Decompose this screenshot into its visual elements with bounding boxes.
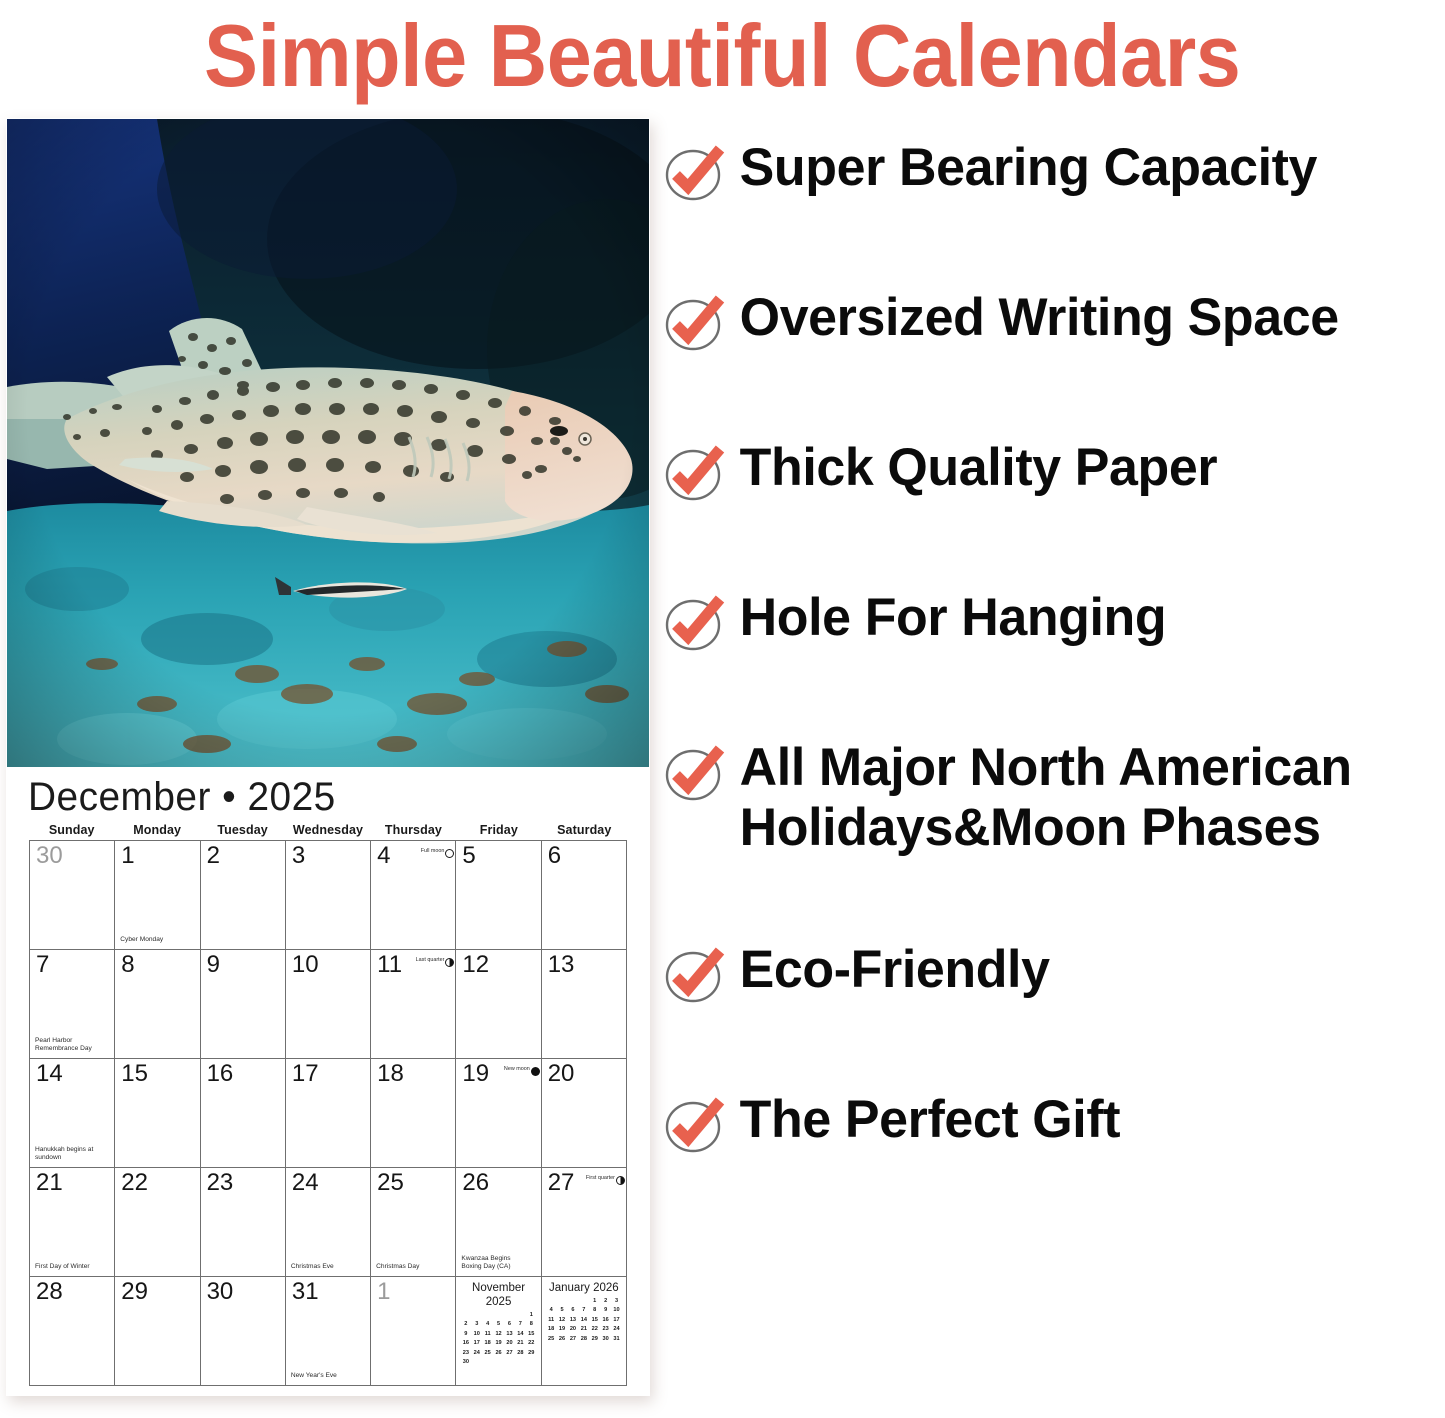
feature-label: Hole For Hanging (724, 588, 1166, 648)
mini-day-blank (567, 1297, 578, 1306)
mini-day: 19 (493, 1339, 504, 1348)
mini-day: 11 (482, 1330, 493, 1339)
mini-day-blank (460, 1311, 471, 1320)
mini-day: 5 (493, 1320, 504, 1329)
holiday-label: Christmas Day (376, 1263, 452, 1271)
check-circle-icon (662, 292, 724, 354)
calendar-day-cell-1: 1 (371, 1277, 456, 1386)
calendar-month-header: December • 2025 (6, 773, 650, 821)
holiday-label: First Day of Winter (35, 1263, 111, 1271)
holiday-label: Christmas Eve (291, 1263, 367, 1271)
mini-day-blank (482, 1311, 493, 1320)
feature-label: Thick Quality Paper (724, 438, 1217, 498)
check-circle-icon (662, 1094, 724, 1156)
mini-day: 30 (600, 1335, 611, 1344)
feature-item: The Perfect Gift (662, 1090, 1442, 1156)
weekday-header-thursday: Thursday (371, 823, 456, 837)
feature-item: Eco-Friendly (662, 940, 1442, 1006)
calendar-photo-zebra-shark (7, 119, 649, 767)
feature-text-block: Super Bearing Capacity (724, 138, 1329, 198)
mini-day: 25 (546, 1335, 557, 1344)
day-number: 14 (36, 1060, 63, 1088)
check-circle-icon (662, 944, 724, 1006)
check-circle-glyph (662, 742, 724, 804)
day-number: 30 (36, 842, 63, 870)
day-number: 25 (377, 1169, 404, 1197)
day-number: 9 (207, 951, 220, 979)
day-number: 8 (121, 951, 134, 979)
mini-calendar-title: January 2026 (546, 1281, 622, 1295)
calendar-day-cell-21: 21First Day of Winter (30, 1168, 115, 1277)
mini-day: 19 (557, 1325, 568, 1334)
mini-calendar-next: January 2026 123456789101112131415161718… (546, 1281, 622, 1344)
page-title-bar: Simple Beautiful Calendars (0, 0, 1445, 112)
mini-day: 3 (471, 1320, 482, 1329)
check-circle-icon (662, 442, 724, 504)
day-number: 17 (292, 1060, 319, 1088)
mini-day: 2 (460, 1320, 471, 1329)
mini-day: 1 (589, 1297, 600, 1306)
mini-day: 14 (515, 1330, 526, 1339)
mini-day: 29 (589, 1335, 600, 1344)
calendar-day-cell-30: 30 (30, 841, 115, 950)
day-number: 19 (462, 1060, 489, 1088)
calendar-day-cell-17: 17 (286, 1059, 371, 1168)
mini-day: 30 (460, 1358, 471, 1367)
page-title: Simple Beautiful Calendars (204, 12, 1240, 100)
day-number: 29 (121, 1278, 148, 1306)
weekday-header-wednesday: Wednesday (285, 823, 370, 837)
feature-label-continued: Holidays&Moon Phases (724, 798, 1352, 858)
mini-day: 11 (546, 1316, 557, 1325)
full-moon-icon (445, 849, 454, 858)
day-number: 18 (377, 1060, 404, 1088)
day-number: 12 (462, 951, 489, 979)
calendar-day-cell-14: 14Hanukkah begins at sundown (30, 1059, 115, 1168)
calendar-day-cell-31: 31New Year's Eve (286, 1277, 371, 1386)
calendar-day-cell-22: 22 (115, 1168, 200, 1277)
mini-day: 15 (589, 1316, 600, 1325)
moon-phase-full: Full moon (421, 844, 455, 858)
mini-day: 17 (471, 1339, 482, 1348)
holiday-label: Hanukkah begins at sundown (35, 1146, 111, 1162)
mini-day: 13 (504, 1330, 515, 1339)
mini-day: 4 (546, 1306, 557, 1315)
calendar-day-cell-9: 9 (201, 950, 286, 1059)
mini-day: 18 (482, 1339, 493, 1348)
mini-day: 28 (515, 1349, 526, 1358)
mini-day: 2 (600, 1297, 611, 1306)
calendar-day-cell-10: 10 (286, 950, 371, 1059)
calendar-cell-mini-next: January 2026 123456789101112131415161718… (542, 1277, 627, 1386)
mini-day: 14 (578, 1316, 589, 1325)
feature-list: Super Bearing CapacityOversized Writing … (662, 138, 1442, 1156)
moon-phase-label: Last quarter (416, 957, 445, 963)
holiday-label: New Year's Eve (291, 1372, 367, 1380)
calendar-day-cell-29: 29 (115, 1277, 200, 1386)
mini-day: 20 (504, 1339, 515, 1348)
calendar-day-cell-4: 4Full moon (371, 841, 456, 950)
day-number: 23 (207, 1169, 234, 1197)
calendar-day-cell-15: 15 (115, 1059, 200, 1168)
moon-phase-label: Full moon (421, 848, 445, 854)
feature-label: Oversized Writing Space (724, 288, 1339, 348)
mini-calendar-grid: 1234567891011121314151617181920212223242… (460, 1311, 536, 1367)
day-number: 16 (207, 1060, 234, 1088)
calendar-day-cell-16: 16 (201, 1059, 286, 1168)
mini-day: 23 (460, 1349, 471, 1358)
mini-day: 6 (567, 1306, 578, 1315)
weekday-header-friday: Friday (456, 823, 541, 837)
day-number: 28 (36, 1278, 63, 1306)
mini-day: 1 (526, 1311, 537, 1320)
calendar-day-cell-2: 2 (201, 841, 286, 950)
weekday-header-tuesday: Tuesday (200, 823, 285, 837)
mini-day-blank (515, 1311, 526, 1320)
day-number: 10 (292, 951, 319, 979)
weekday-header-saturday: Saturday (542, 823, 627, 837)
shark-photo-illustration (7, 119, 649, 767)
last-moon-icon (445, 958, 454, 967)
mini-day: 24 (471, 1349, 482, 1358)
day-number: 5 (462, 842, 475, 870)
moon-phase-new: New moon (504, 1062, 540, 1076)
day-number: 24 (292, 1169, 319, 1197)
mini-day: 18 (546, 1325, 557, 1334)
calendar-day-cell-8: 8 (115, 950, 200, 1059)
moon-phase-label: New moon (504, 1066, 530, 1072)
mini-day-blank (557, 1297, 568, 1306)
check-circle-icon (662, 742, 724, 804)
mini-day: 29 (526, 1349, 537, 1358)
calendar-day-cell-27: 27First quarter (542, 1168, 627, 1277)
moon-phase-first: First quarter (586, 1171, 625, 1185)
feature-item: Oversized Writing Space (662, 288, 1442, 354)
mini-day: 25 (482, 1349, 493, 1358)
mini-day: 12 (493, 1330, 504, 1339)
calendar-day-cell-13: 13 (542, 950, 627, 1059)
calendar-day-cell-25: 25Christmas Day (371, 1168, 456, 1277)
mini-day: 8 (589, 1306, 600, 1315)
calendar-day-cell-23: 23 (201, 1168, 286, 1277)
mini-day: 20 (567, 1325, 578, 1334)
calendar-day-cell-11: 11Last quarter (371, 950, 456, 1059)
calendar-day-cell-6: 6 (542, 841, 627, 950)
mini-day: 31 (611, 1335, 622, 1344)
calendar-day-cell-30: 30 (201, 1277, 286, 1386)
check-circle-icon (662, 142, 724, 204)
mini-day: 27 (567, 1335, 578, 1344)
feature-label: The Perfect Gift (724, 1090, 1120, 1150)
check-circle-glyph (662, 442, 724, 504)
mini-day: 21 (515, 1339, 526, 1348)
mini-day: 24 (611, 1325, 622, 1334)
feature-text-block: Oversized Writing Space (724, 288, 1351, 348)
mini-day: 8 (526, 1320, 537, 1329)
check-circle-glyph (662, 944, 724, 1006)
day-number: 3 (292, 842, 305, 870)
month-title: December • 2025 (28, 773, 631, 821)
first-moon-icon (616, 1176, 625, 1185)
feature-text-block: The Perfect Gift (724, 1090, 1128, 1150)
day-number: 13 (548, 951, 575, 979)
mini-day-blank (493, 1311, 504, 1320)
mini-day: 9 (460, 1330, 471, 1339)
mini-day: 26 (557, 1335, 568, 1344)
day-number: 1 (377, 1278, 390, 1306)
mini-day: 21 (578, 1325, 589, 1334)
mini-day: 17 (611, 1316, 622, 1325)
mini-day: 10 (471, 1330, 482, 1339)
day-number: 30 (207, 1278, 234, 1306)
mini-calendar-title: November 2025 (460, 1281, 536, 1309)
mini-day: 16 (600, 1316, 611, 1325)
mini-day: 6 (504, 1320, 515, 1329)
day-number: 27 (548, 1169, 575, 1197)
mini-day-blank (578, 1297, 589, 1306)
calendar-cell-mini-prev: November 2025 12345678910111213141516171… (456, 1277, 541, 1386)
day-number: 31 (292, 1278, 319, 1306)
day-number: 1 (121, 842, 134, 870)
calendar-day-cell-12: 12 (456, 950, 541, 1059)
mini-calendar-prev: November 2025 12345678910111213141516171… (460, 1281, 536, 1367)
mini-day: 12 (557, 1316, 568, 1325)
weekday-header-monday: Monday (114, 823, 199, 837)
weekday-header-sunday: Sunday (29, 823, 114, 837)
day-number: 26 (462, 1169, 489, 1197)
calendar-day-cell-19: 19New moon (456, 1059, 541, 1168)
mini-day: 26 (493, 1349, 504, 1358)
feature-item: Thick Quality Paper (662, 438, 1442, 504)
mini-day: 16 (460, 1339, 471, 1348)
day-number: 7 (36, 951, 49, 979)
day-number: 15 (121, 1060, 148, 1088)
check-circle-glyph (662, 592, 724, 654)
feature-label: Super Bearing Capacity (724, 138, 1317, 198)
mini-day-blank (504, 1311, 515, 1320)
day-number: 21 (36, 1169, 63, 1197)
calendar-day-cell-18: 18 (371, 1059, 456, 1168)
mini-day: 22 (589, 1325, 600, 1334)
feature-text-block: Hole For Hanging (724, 588, 1175, 648)
calendar-day-cell-28: 28 (30, 1277, 115, 1386)
weekday-header-row: SundayMondayTuesdayWednesdayThursdayFrid… (29, 823, 627, 837)
day-number: 11 (377, 951, 402, 979)
moon-phase-label: First quarter (586, 1175, 615, 1181)
calendar-day-cell-3: 3 (286, 841, 371, 950)
holiday-label: Kwanzaa BeginsBoxing Day (CA) (461, 1255, 537, 1271)
mini-day: 22 (526, 1339, 537, 1348)
month-day-grid: 301Cyber Monday234Full moon567Pearl Harb… (29, 840, 627, 1386)
mini-day: 28 (578, 1335, 589, 1344)
mini-day: 3 (611, 1297, 622, 1306)
feature-text-block: Eco-Friendly (724, 940, 1056, 1000)
calendar-day-cell-26: 26Kwanzaa BeginsBoxing Day (CA) (456, 1168, 541, 1277)
check-circle-icon (662, 592, 724, 654)
mini-day: 13 (567, 1316, 578, 1325)
mini-day-blank (471, 1311, 482, 1320)
feature-text-block: Thick Quality Paper (724, 438, 1227, 498)
calendar-day-cell-1: 1Cyber Monday (115, 841, 200, 950)
mini-day: 5 (557, 1306, 568, 1315)
day-number: 6 (548, 842, 561, 870)
feature-item: Hole For Hanging (662, 588, 1442, 654)
check-circle-glyph (662, 1094, 724, 1156)
check-circle-glyph (662, 292, 724, 354)
calendar-day-cell-5: 5 (456, 841, 541, 950)
feature-text-block: All Major North AmericanHolidays&Moon Ph… (724, 738, 1365, 858)
holiday-label: Pearl Harbor Remembrance Day (35, 1037, 111, 1053)
day-number: 20 (548, 1060, 575, 1088)
feature-label: Eco-Friendly (724, 940, 1050, 1000)
mini-day: 4 (482, 1320, 493, 1329)
feature-label: All Major North American (724, 738, 1352, 798)
feature-item: Super Bearing Capacity (662, 138, 1442, 204)
holiday-label: Cyber Monday (120, 936, 196, 944)
mini-day: 23 (600, 1325, 611, 1334)
mini-calendar-grid: 1234567891011121314151617181920212223242… (546, 1297, 622, 1344)
moon-phase-last: Last quarter (416, 953, 455, 967)
mini-day-blank (546, 1297, 557, 1306)
mini-day: 7 (578, 1306, 589, 1315)
mini-day: 9 (600, 1306, 611, 1315)
calendar-day-cell-7: 7Pearl Harbor Remembrance Day (30, 950, 115, 1059)
calendar-day-cell-24: 24Christmas Eve (286, 1168, 371, 1277)
day-number: 2 (207, 842, 220, 870)
feature-item: All Major North AmericanHolidays&Moon Ph… (662, 738, 1442, 858)
new-moon-icon (531, 1067, 540, 1076)
day-number: 4 (377, 842, 390, 870)
mini-day: 27 (504, 1349, 515, 1358)
mini-day: 7 (515, 1320, 526, 1329)
mini-day: 10 (611, 1306, 622, 1315)
calendar-day-cell-20: 20 (542, 1059, 627, 1168)
day-number: 22 (121, 1169, 148, 1197)
mini-day: 15 (526, 1330, 537, 1339)
check-circle-glyph (662, 142, 724, 204)
calendar-product-image: December • 2025 SundayMondayTuesdayWedne… (6, 118, 650, 1396)
